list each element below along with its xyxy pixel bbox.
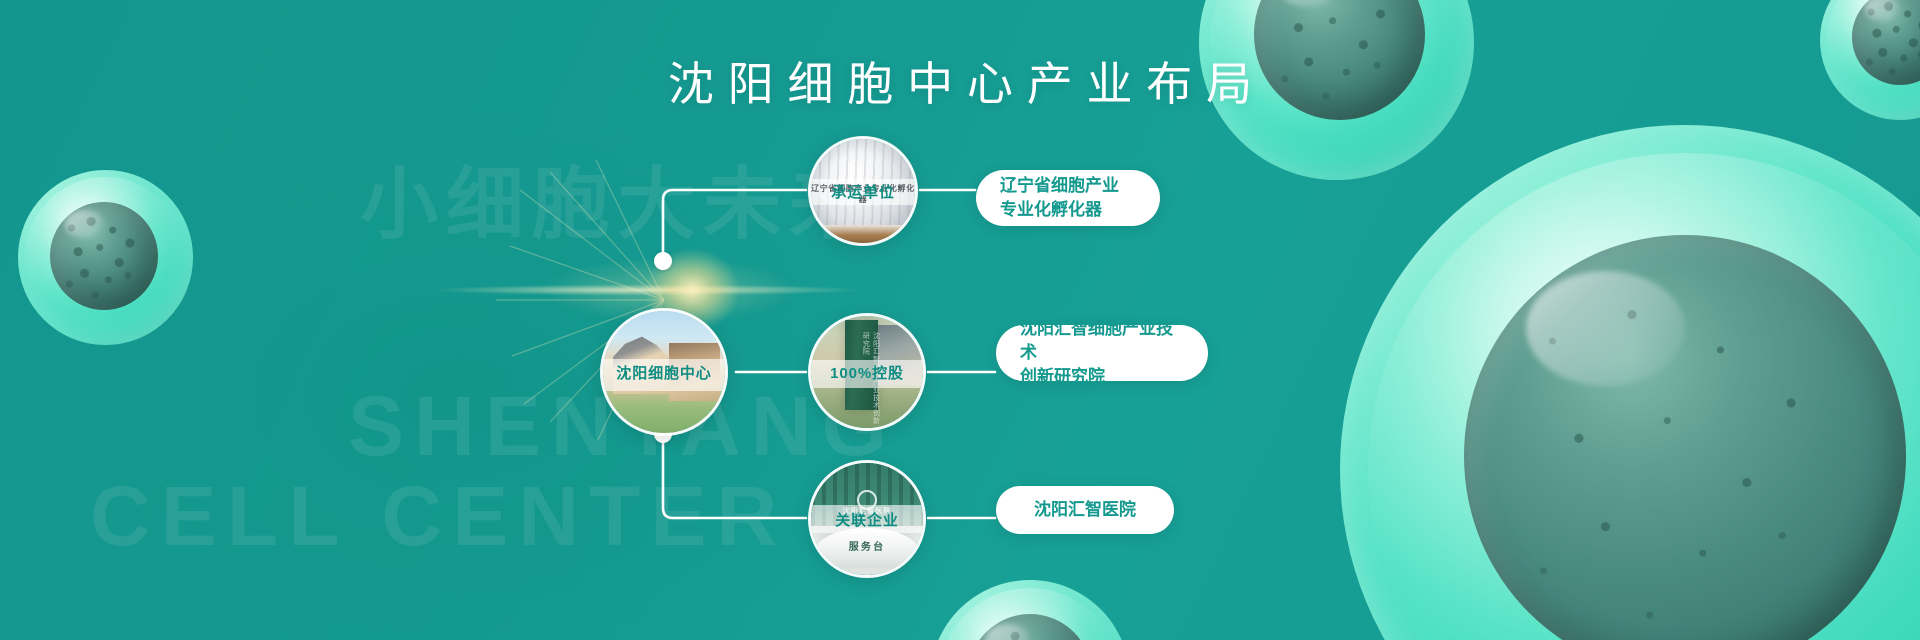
watermark-chinese: 小细胞大未来: [360, 142, 875, 254]
node1-caption: 承运单位: [831, 181, 895, 202]
node2-caption: 100%控股: [830, 362, 904, 383]
nucleus-gloss: [65, 210, 104, 238]
node-hub-caption: 沈阳细胞中心: [616, 362, 711, 383]
label-huizhi-research-institute[interactable]: 沈阳汇智细胞产业技术 创新研究院: [996, 325, 1208, 381]
label-liaoning-incubator[interactable]: 辽宁省细胞产业 专业化孵化器: [976, 170, 1160, 226]
connector-dot-top: [654, 252, 672, 270]
node-affiliated-enterprise[interactable]: 沈阳汇智医院 服务台 关联企业: [808, 460, 926, 578]
cell-left: [18, 170, 193, 345]
page-title: 沈阳细胞中心产业布局: [0, 48, 1920, 114]
lobby-photo-sign-text: 沈阳汇智医院: [811, 506, 923, 516]
cell-big-right: [1340, 125, 1920, 640]
cell-nucleus: [50, 202, 159, 311]
lobby-photo-desk-text: 服务台: [811, 538, 923, 553]
nucleus-gloss: [1526, 271, 1685, 386]
cell-bottom-center: [930, 580, 1130, 640]
watermark-english-line2: CELL CENTER: [90, 468, 787, 565]
node-carrier-unit[interactable]: 辽宁省细胞产业专业化孵化器 承运单位: [808, 136, 918, 246]
label-huizhi-hospital[interactable]: 沈阳汇智医院: [996, 486, 1174, 534]
banner-stage: 小细胞大未来 SHENYANG CELL CENTER 沈阳细胞中心产业布局: [0, 0, 1920, 640]
node-hub-shenyang-cell-center[interactable]: 沈阳细胞中心: [600, 308, 728, 436]
node-full-ownership[interactable]: 沈阳汇智细胞产业技术创新研究院 100%控股: [808, 313, 926, 431]
